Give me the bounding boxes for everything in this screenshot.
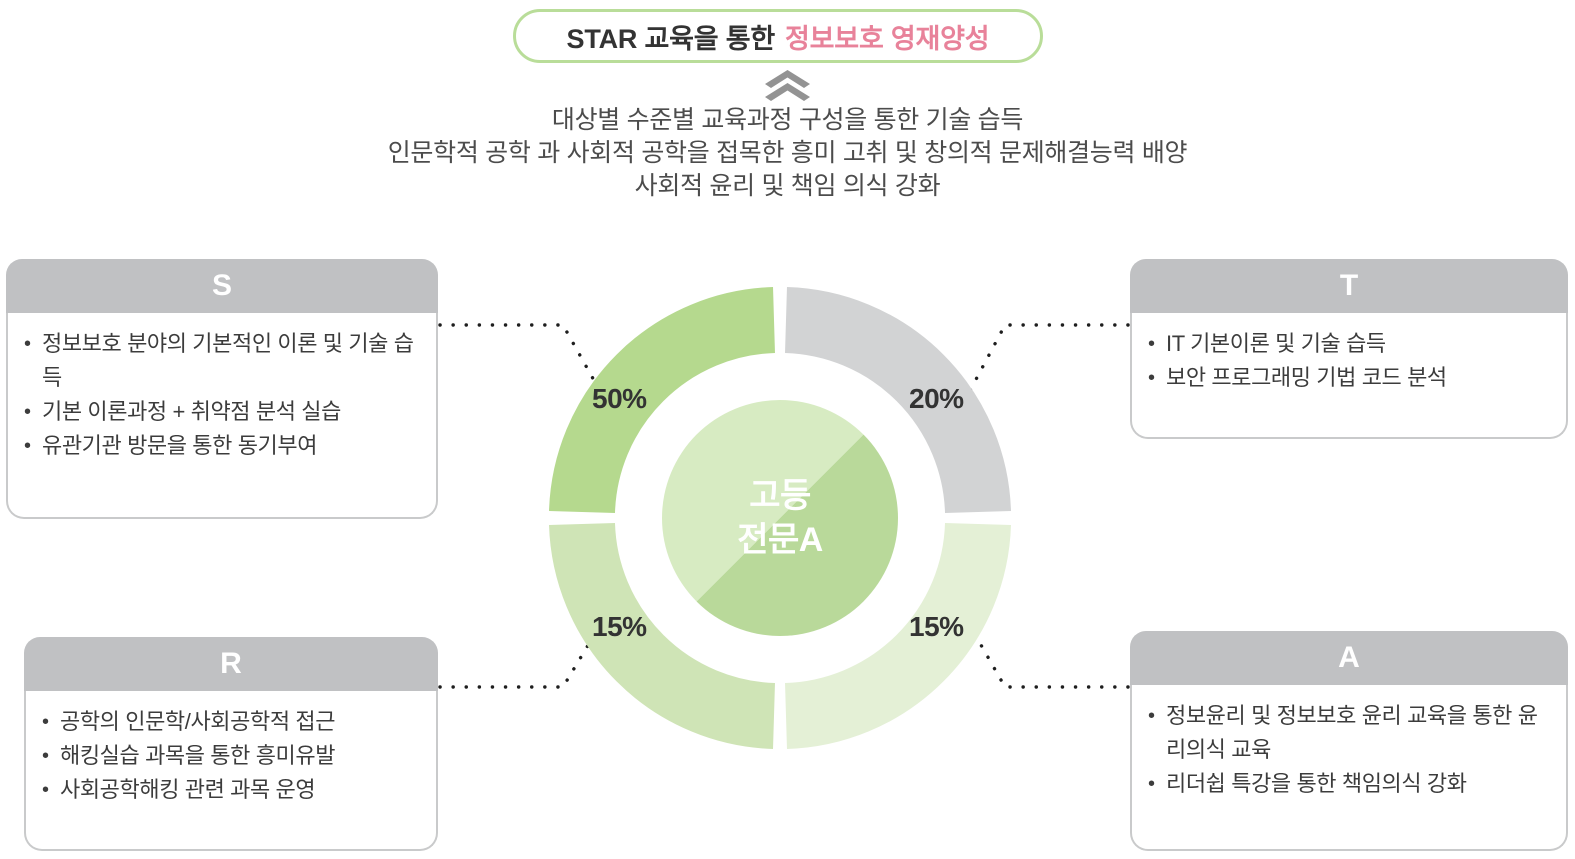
card-r: R 공학의 인문학/사회공학적 접근 해킹실습 과목을 통한 흥미유발 사회공학…	[24, 637, 438, 851]
list-item: 유관기관 방문을 통한 동기부여	[24, 429, 422, 463]
subtitle-line-3: 사회적 윤리 및 책임 의식 강화	[0, 170, 1575, 203]
card-r-body: 공학의 인문학/사회공학적 접근 해킹실습 과목을 통한 흥미유발 사회공학해킹…	[24, 691, 438, 851]
card-t-body: IT 기본이론 및 기술 습득 보안 프로그래밍 기법 코드 분석	[1130, 313, 1568, 439]
donut-center-circle	[662, 400, 898, 636]
donut-chart-svg	[533, 271, 1027, 765]
list-item: 사회공학해킹 관련 과목 운영	[42, 773, 422, 807]
percent-label-s: 50%	[592, 383, 647, 415]
subtitle-line-1: 대상별 수준별 교육과정 구성을 통한 기술 습득	[0, 104, 1575, 137]
list-item: 공학의 인문학/사회공학적 접근	[42, 705, 422, 739]
percent-label-r: 15%	[592, 611, 647, 643]
percent-label-t: 20%	[909, 383, 964, 415]
card-t: T IT 기본이론 및 기술 습득 보안 프로그래밍 기법 코드 분석	[1130, 259, 1568, 439]
list-item: 정보보호 분야의 기본적인 이론 및 기술 습득	[24, 327, 422, 395]
subtitle-block: 대상별 수준별 교육과정 구성을 통한 기술 습득 인문학적 공학 과 사회적 …	[0, 104, 1575, 203]
card-t-header: T	[1130, 259, 1568, 313]
page-title: STAR 교육을 통한정보보호 영재양성	[513, 9, 1043, 63]
page-title-main: STAR 교육을 통한	[567, 17, 776, 56]
list-item: IT 기본이론 및 기술 습득	[1148, 327, 1552, 361]
diagram-canvas: STAR 교육을 통한정보보호 영재양성 대상별 수준별 교육과정 구성을 통한…	[0, 0, 1575, 859]
donut-chart: 고등 전문A	[533, 271, 1027, 765]
list-item: 기본 이론과정 + 취약점 분석 실습	[24, 395, 422, 429]
list-item: 보안 프로그래밍 기법 코드 분석	[1148, 361, 1552, 395]
percent-label-a: 15%	[909, 611, 964, 643]
list-item: 해킹실습 과목을 통한 흥미유발	[42, 739, 422, 773]
list-item: 리더쉽 특강을 통한 책임의식 강화	[1148, 767, 1552, 801]
double-chevron-up-icon	[760, 68, 815, 102]
card-a: A 정보윤리 및 정보보호 윤리 교육을 통한 윤리의식 교육 리더쉽 특강을 …	[1130, 631, 1568, 851]
subtitle-line-2: 인문학적 공학 과 사회적 공학을 접목한 흥미 고취 및 창의적 문제해결능력…	[0, 137, 1575, 170]
card-a-header: A	[1130, 631, 1568, 685]
card-s-body: 정보보호 분야의 기본적인 이론 및 기술 습득 기본 이론과정 + 취약점 분…	[6, 313, 438, 519]
card-s-letter: S	[212, 269, 232, 303]
card-s: S 정보보호 분야의 기본적인 이론 및 기술 습득 기본 이론과정 + 취약점…	[6, 259, 438, 519]
card-r-header: R	[24, 637, 438, 691]
page-title-accent: 정보보호 영재양성	[785, 17, 989, 56]
card-s-header: S	[6, 259, 438, 313]
card-a-body: 정보윤리 및 정보보호 윤리 교육을 통한 윤리의식 교육 리더쉽 특강을 통한…	[1130, 685, 1568, 851]
card-t-letter: T	[1340, 269, 1358, 303]
list-item: 정보윤리 및 정보보호 윤리 교육을 통한 윤리의식 교육	[1148, 699, 1552, 767]
card-a-letter: A	[1338, 641, 1360, 675]
card-r-letter: R	[220, 647, 242, 681]
